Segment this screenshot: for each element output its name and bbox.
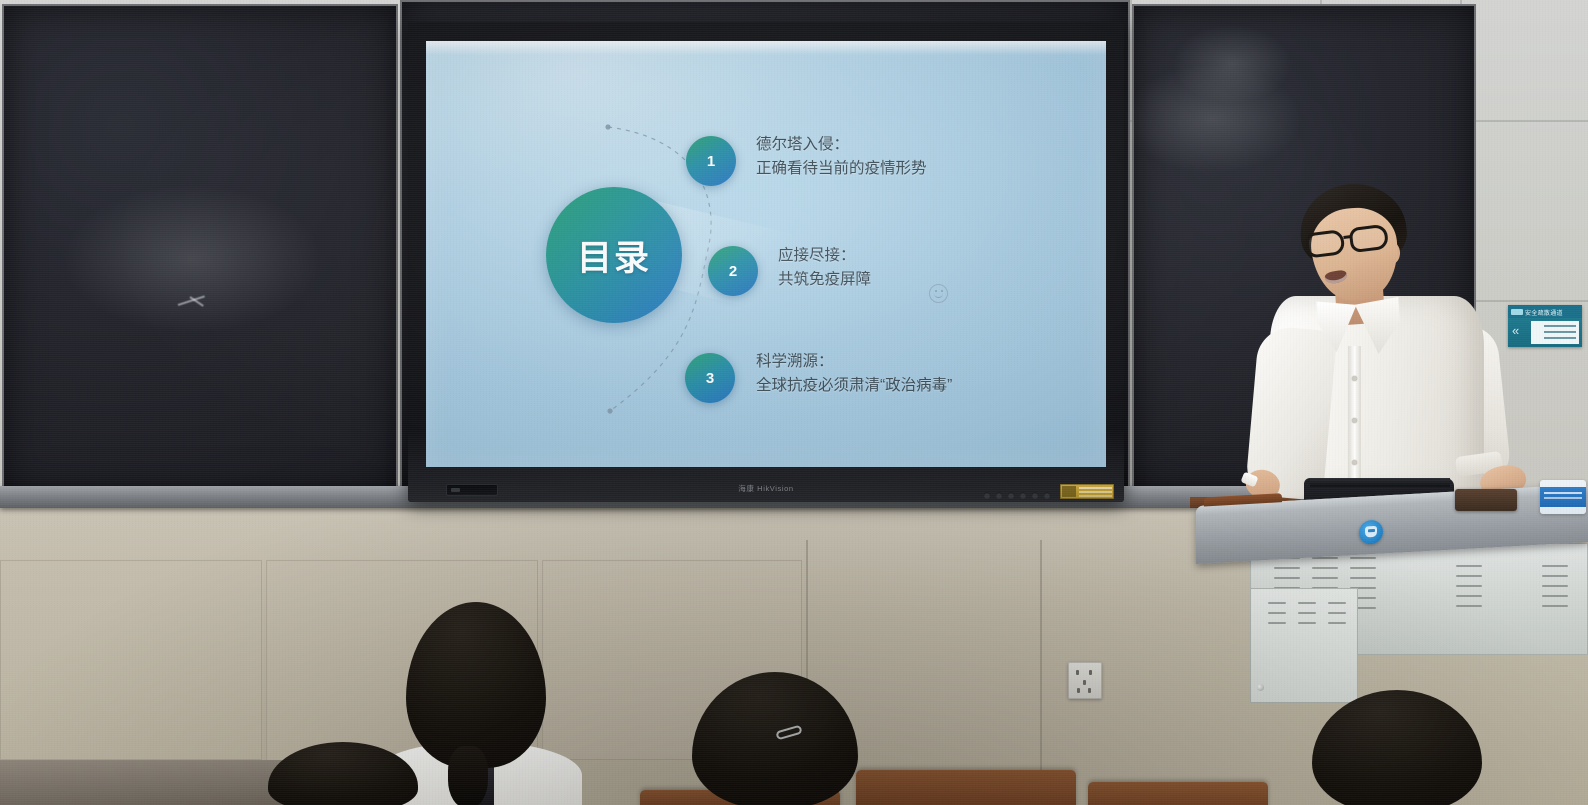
agenda-item-2-heading: 应接尽接：: [778, 247, 856, 264]
dark-case-on-desk[interactable]: [1455, 489, 1517, 511]
floor-strip: [0, 760, 300, 805]
agenda-node-1-number: 1: [707, 153, 715, 170]
presenter-belt: [1310, 478, 1450, 487]
agenda-hub-circle: 目录: [546, 187, 682, 323]
student-hair: [1312, 690, 1482, 805]
agenda-item-2-text: 应接尽接： 共筑免疫屏障: [778, 244, 871, 292]
agenda-node-3[interactable]: 3: [685, 353, 735, 403]
presenter-shirt-button: [1352, 376, 1357, 381]
student-hair: [692, 672, 858, 805]
energy-label-sticker: [1060, 484, 1114, 499]
agenda-hub-label: 目录: [577, 230, 651, 281]
presenter: [1232, 178, 1562, 508]
school-emblem-icon: [1359, 520, 1383, 545]
display-button-menu[interactable]: [1008, 492, 1014, 498]
display-button-enter[interactable]: [1044, 492, 1050, 498]
agenda-item-3-heading: 科学溯源：: [756, 353, 834, 370]
agenda-node-1[interactable]: 1: [686, 136, 736, 186]
podium-door-lock-icon[interactable]: [1257, 684, 1264, 691]
classroom-photo: 目录 1 德尔塔入侵： 正确看待当前的疫情形势 2 应接尽接： 共筑免疫屏障: [0, 0, 1588, 805]
slide-agenda: 目录 1 德尔塔入侵： 正确看待当前的疫情形势 2 应接尽接： 共筑免疫屏障: [426, 41, 1106, 467]
wall-power-outlet[interactable]: [1068, 662, 1102, 699]
agenda-node-2[interactable]: 2: [708, 246, 758, 296]
podium-cabinet-door[interactable]: [1250, 588, 1358, 703]
display-button-up[interactable]: [1020, 492, 1026, 498]
display-button-source[interactable]: [996, 492, 1002, 498]
student-hair: [268, 742, 418, 805]
chair-back: [1088, 782, 1268, 805]
presenter-shirt-button: [1352, 418, 1357, 423]
agenda-item-2-body: 共筑免疫屏障: [778, 268, 871, 292]
display-control-buttons[interactable]: [984, 492, 1050, 498]
presentation-screen[interactable]: 目录 1 德尔塔入侵： 正确看待当前的疫情形势 2 应接尽接： 共筑免疫屏障: [426, 41, 1106, 467]
agenda-item-1-body: 正确看待当前的疫情形势: [756, 157, 927, 181]
student-ponytail: [448, 746, 488, 805]
chair-back: [856, 770, 1076, 805]
display-brand-label: 海康 HikVision: [738, 483, 793, 494]
display-button-down[interactable]: [1032, 492, 1038, 498]
student-right: [1312, 690, 1482, 805]
presenter-shirt-button: [1352, 460, 1357, 465]
water-bottle[interactable]: [1540, 480, 1586, 514]
lectern-podium[interactable]: [1196, 495, 1588, 655]
student-hair: [406, 602, 546, 768]
student-middle-right: [692, 672, 858, 805]
podium-body: [1250, 543, 1588, 655]
ir-receiver-icon: [446, 484, 498, 496]
agenda-item-1-text: 德尔塔入侵： 正确看待当前的疫情形势: [756, 133, 927, 181]
agenda-node-3-number: 3: [706, 370, 714, 387]
display-button-power[interactable]: [984, 492, 990, 498]
chalkboard-panel-left: [2, 4, 398, 494]
agenda-item-3-body: 全球抗疫必须肃清“政治病毒”: [756, 374, 952, 398]
agenda-item-1-heading: 德尔塔入侵：: [756, 136, 849, 153]
wall-seam: [1040, 540, 1042, 770]
smiley-face-icon: [929, 284, 948, 303]
water-bottle-label: [1540, 487, 1586, 507]
interactive-flat-panel[interactable]: 目录 1 德尔塔入侵： 正确看待当前的疫情形势 2 应接尽接： 共筑免疫屏障: [408, 22, 1124, 502]
agenda-item-3-text: 科学溯源： 全球抗疫必须肃清“政治病毒”: [756, 350, 952, 398]
student-left: [268, 742, 418, 805]
agenda-node-2-number: 2: [729, 263, 737, 280]
wall-panel: [0, 560, 262, 760]
